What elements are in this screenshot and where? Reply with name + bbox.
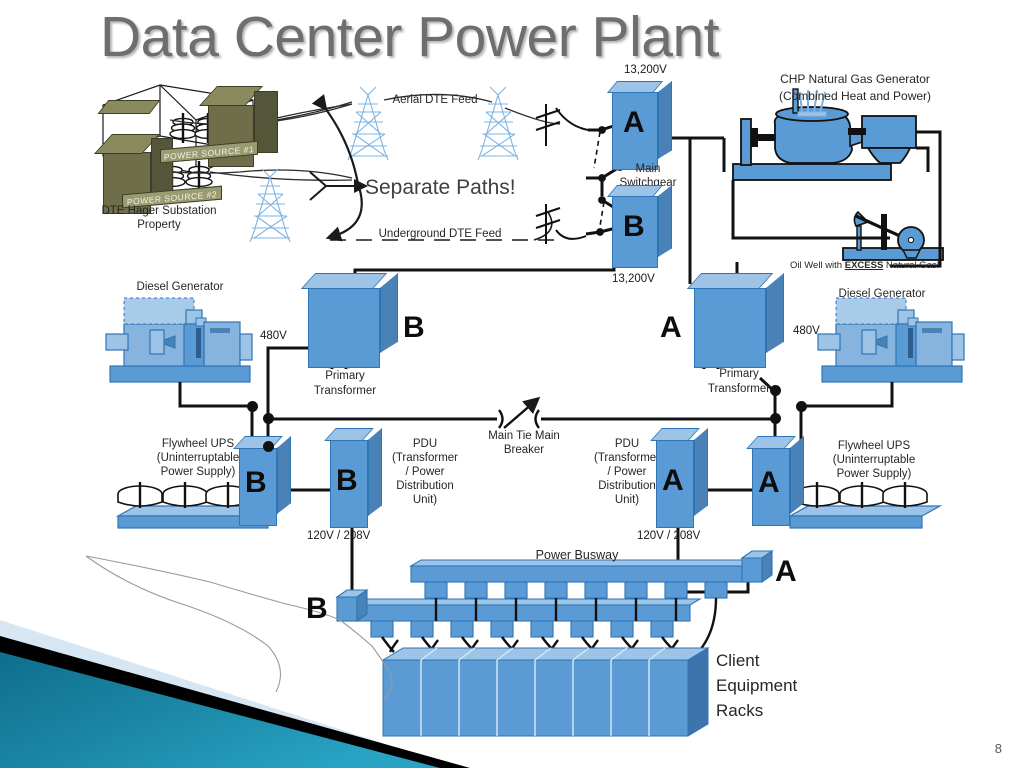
slide-number: 8 — [995, 741, 1002, 756]
slide-decoration — [0, 0, 1024, 768]
slide-canvas: Data Center Power Plant — [0, 0, 1024, 768]
